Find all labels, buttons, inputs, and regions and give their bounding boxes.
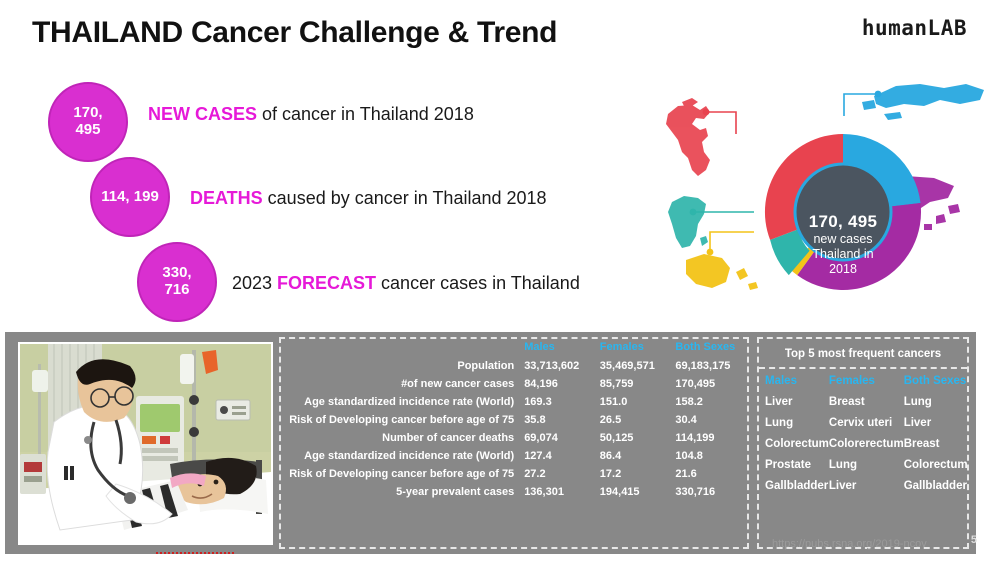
table-cell-males: 27.2 — [520, 465, 596, 483]
stat-text-deaths: DEATHS caused by cancer in Thailand 2018 — [190, 188, 547, 209]
table-row: Risk of Developing cancer before age of … — [281, 465, 747, 483]
top5-female-item: Cervix uteri — [829, 417, 904, 429]
stat-circle-forecast: 330, 716 — [137, 242, 217, 322]
top5-male-item: Colorectum — [765, 438, 829, 450]
table-row: Number of cancer deaths 69,074 50,125 11… — [281, 429, 747, 447]
table-cell-females: 86.4 — [596, 447, 672, 465]
donut-chart-svg — [648, 72, 991, 322]
clinic-photo — [18, 342, 273, 545]
table-cell-males: 84,196 — [520, 375, 596, 393]
table-cell-males: 35.8 — [520, 411, 596, 429]
stat-circle-new-cases: 170, 495 — [48, 82, 128, 162]
table-row-label: 5-year prevalent cases — [281, 483, 520, 501]
table-cell-females: 35,469,571 — [596, 357, 672, 375]
top5-grid: Males Females Both Sexes Liver Breast Lu… — [759, 369, 967, 492]
map-oceania-icon — [686, 254, 758, 290]
table-cell-females: 151.0 — [596, 393, 672, 411]
page-title: THAILAND Cancer Challenge & Trend — [32, 16, 557, 50]
table-cell-females: 50,125 — [596, 429, 672, 447]
stat-circle-line1: 330, — [162, 264, 191, 281]
table-cell-males: 127.4 — [520, 447, 596, 465]
top5-header-females: Females — [829, 375, 904, 387]
statistics-table: Males Females Both Sexes Population 33,7… — [281, 339, 747, 501]
stat-text-new-cases: NEW CASES of cancer in Thailand 2018 — [148, 104, 474, 125]
top5-female-item: Breast — [829, 396, 904, 408]
stat-circle-deaths: 114, 199 — [90, 157, 170, 237]
stat-prefix-forecast: 2023 — [232, 273, 277, 293]
stat-circle-line1: 114, 199 — [101, 189, 159, 206]
table-cell-males: 169.3 — [520, 393, 596, 411]
donut-center-disc — [795, 164, 891, 260]
bottom-panel: Males Females Both Sexes Population 33,7… — [5, 332, 976, 554]
table-row-label: Risk of Developing cancer before age of … — [281, 465, 520, 483]
table-header-row: Males Females Both Sexes — [281, 339, 747, 357]
stat-circle-line2: 716 — [164, 281, 189, 298]
table-row: Risk of Developing cancer before age of … — [281, 411, 747, 429]
table-row-label: Population — [281, 357, 520, 375]
table-cell-both: 114,199 — [671, 429, 747, 447]
table-cell-males: 69,074 — [520, 429, 596, 447]
table-row-label: Age standardized incidence rate (World) — [281, 393, 520, 411]
stat-rest-forecast: cancer cases in Thailand — [376, 273, 580, 293]
stat-highlight-new-cases: NEW CASES — [148, 104, 257, 124]
table-cell-both: 170,495 — [671, 375, 747, 393]
table-row-label: #of new cancer cases — [281, 375, 520, 393]
table-cell-both: 104.8 — [671, 447, 747, 465]
top5-both-item: Breast — [904, 438, 968, 450]
table-row: Age standardized incidence rate (World) … — [281, 447, 747, 465]
stat-circle-line2: 495 — [75, 121, 100, 138]
table-row-label: Risk of Developing cancer before age of … — [281, 411, 520, 429]
page-number: 5 — [971, 534, 977, 546]
map-europe-russia-icon — [862, 84, 984, 120]
top5-female-item: Liver — [829, 480, 904, 492]
top5-male-item: Lung — [765, 417, 829, 429]
donut-segments — [765, 134, 921, 290]
top5-cancers-panel: Top 5 most frequent cancers Males Female… — [757, 337, 969, 549]
top5-female-item: Colorerectum — [829, 438, 904, 450]
top5-both-item: Liver — [904, 417, 968, 429]
top5-title: Top 5 most frequent cancers — [759, 339, 967, 369]
top5-male-item: Gallbladder — [765, 480, 829, 492]
brand-logo: humanLAB — [862, 16, 967, 40]
table-header-blank — [281, 339, 520, 357]
top5-header-males: Males — [765, 375, 829, 387]
table-cell-females: 194,415 — [596, 483, 672, 501]
map-africa-icon — [668, 196, 708, 248]
stat-rest-new-cases: of cancer in Thailand 2018 — [257, 104, 474, 124]
table-cell-females: 26.5 — [596, 411, 672, 429]
table-cell-females: 85,759 — [596, 375, 672, 393]
top5-female-item: Lung — [829, 459, 904, 471]
table-cell-males: 33,713,602 — [520, 357, 596, 375]
table-header-both-sexes: Both Sexes — [671, 339, 747, 357]
top5-both-item: Gallbladder — [904, 480, 968, 492]
top5-male-item: Prostate — [765, 459, 829, 471]
table-cell-both: 21.6 — [671, 465, 747, 483]
table-row-label: Number of cancer deaths — [281, 429, 520, 447]
stat-text-forecast: 2023 FORECAST cancer cases in Thailand — [232, 273, 580, 294]
clinic-photo-illustration — [20, 344, 271, 543]
table-header-males: Males — [520, 339, 596, 357]
table-cell-both: 69,183,175 — [671, 357, 747, 375]
top5-header-both-sexes: Both Sexes — [904, 375, 968, 387]
table-row: Population 33,713,602 35,469,571 69,183,… — [281, 357, 747, 375]
table-cell-males: 136,301 — [520, 483, 596, 501]
table-row: #of new cancer cases 84,196 85,759 170,4… — [281, 375, 747, 393]
source-url[interactable]: https://pubs.rsna.org/2019-ncov — [772, 538, 927, 550]
table-header-females: Females — [596, 339, 672, 357]
statistics-table-block: Males Females Both Sexes Population 33,7… — [279, 337, 749, 549]
table-row-label: Age standardized incidence rate (World) — [281, 447, 520, 465]
table-cell-females: 17.2 — [596, 465, 672, 483]
stat-circle-line1: 170, — [73, 104, 102, 121]
stat-highlight-deaths: DEATHS — [190, 188, 263, 208]
red-dotted-divider — [156, 552, 234, 554]
table-cell-both: 158.2 — [671, 393, 747, 411]
top5-both-item: Colorectum — [904, 459, 968, 471]
table-cell-both: 30.4 — [671, 411, 747, 429]
top5-male-item: Liver — [765, 396, 829, 408]
table-cell-both: 330,716 — [671, 483, 747, 501]
map-americas-icon — [666, 98, 710, 176]
donut-chart: 170, 495 new cases Thailand in 2018 — [648, 72, 991, 322]
table-row: 5-year prevalent cases 136,301 194,415 3… — [281, 483, 747, 501]
top5-both-item: Lung — [904, 396, 968, 408]
table-row: Age standardized incidence rate (World) … — [281, 393, 747, 411]
stat-rest-deaths: caused by cancer in Thailand 2018 — [263, 188, 547, 208]
stat-highlight-forecast: FORECAST — [277, 273, 376, 293]
